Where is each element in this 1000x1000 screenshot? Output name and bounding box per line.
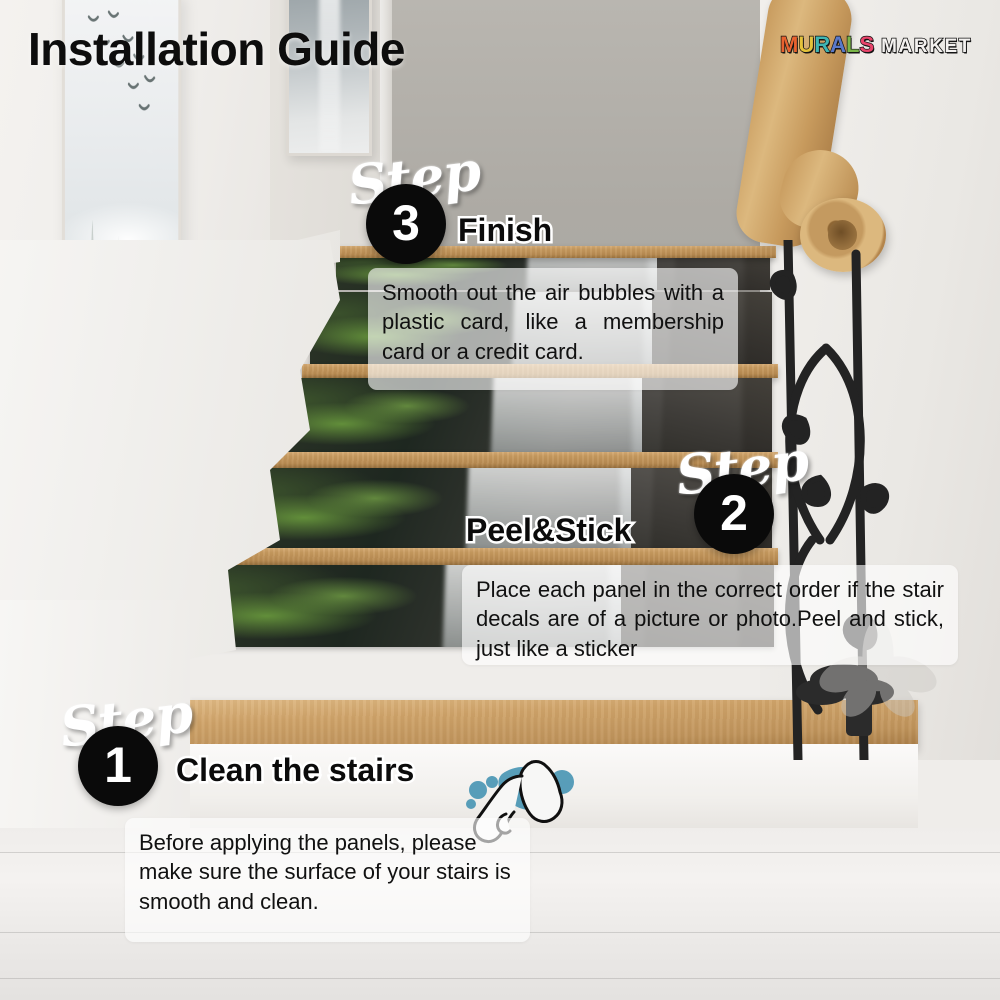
logo-letter-s: S — [859, 32, 874, 58]
step-3-number: 3 — [392, 198, 420, 248]
installation-guide-poster: Installation Guide M U R A L S MARKET St… — [0, 0, 1000, 1000]
step-2-description: Place each panel in the correct order if… — [462, 565, 958, 665]
step-1-number: 1 — [104, 740, 132, 790]
logo-murals-wordmark: M U R A L S — [780, 32, 874, 58]
step-1-heading: Clean the stairs — [176, 752, 414, 789]
page-title: Installation Guide — [28, 22, 405, 76]
step-2-badge: Step 2 — [676, 436, 796, 560]
step-2-number: 2 — [720, 488, 748, 538]
step-1-circle: 1 — [78, 726, 158, 806]
step-2-heading: Peel&Stick — [466, 512, 631, 549]
logo-letter-m: M — [780, 32, 798, 58]
logo-letter-r: R — [814, 32, 830, 58]
step-3-heading: Finish — [458, 212, 552, 249]
step-3-description: Smooth out the air bubbles with a plasti… — [368, 268, 738, 390]
logo-letter-l: L — [846, 32, 859, 58]
step-3-badge: Step 3 — [348, 146, 468, 270]
step-1-badge: Step 1 — [60, 688, 180, 812]
step-1-description: Before applying the panels, please make … — [125, 818, 530, 942]
logo-market-wordmark: MARKET — [881, 36, 972, 58]
logo-letter-a: A — [830, 32, 846, 58]
brand-logo: M U R A L S MARKET — [780, 32, 972, 58]
step-3-circle: 3 — [366, 184, 446, 264]
step-2-circle: 2 — [694, 474, 774, 554]
logo-letter-u: U — [798, 32, 814, 58]
